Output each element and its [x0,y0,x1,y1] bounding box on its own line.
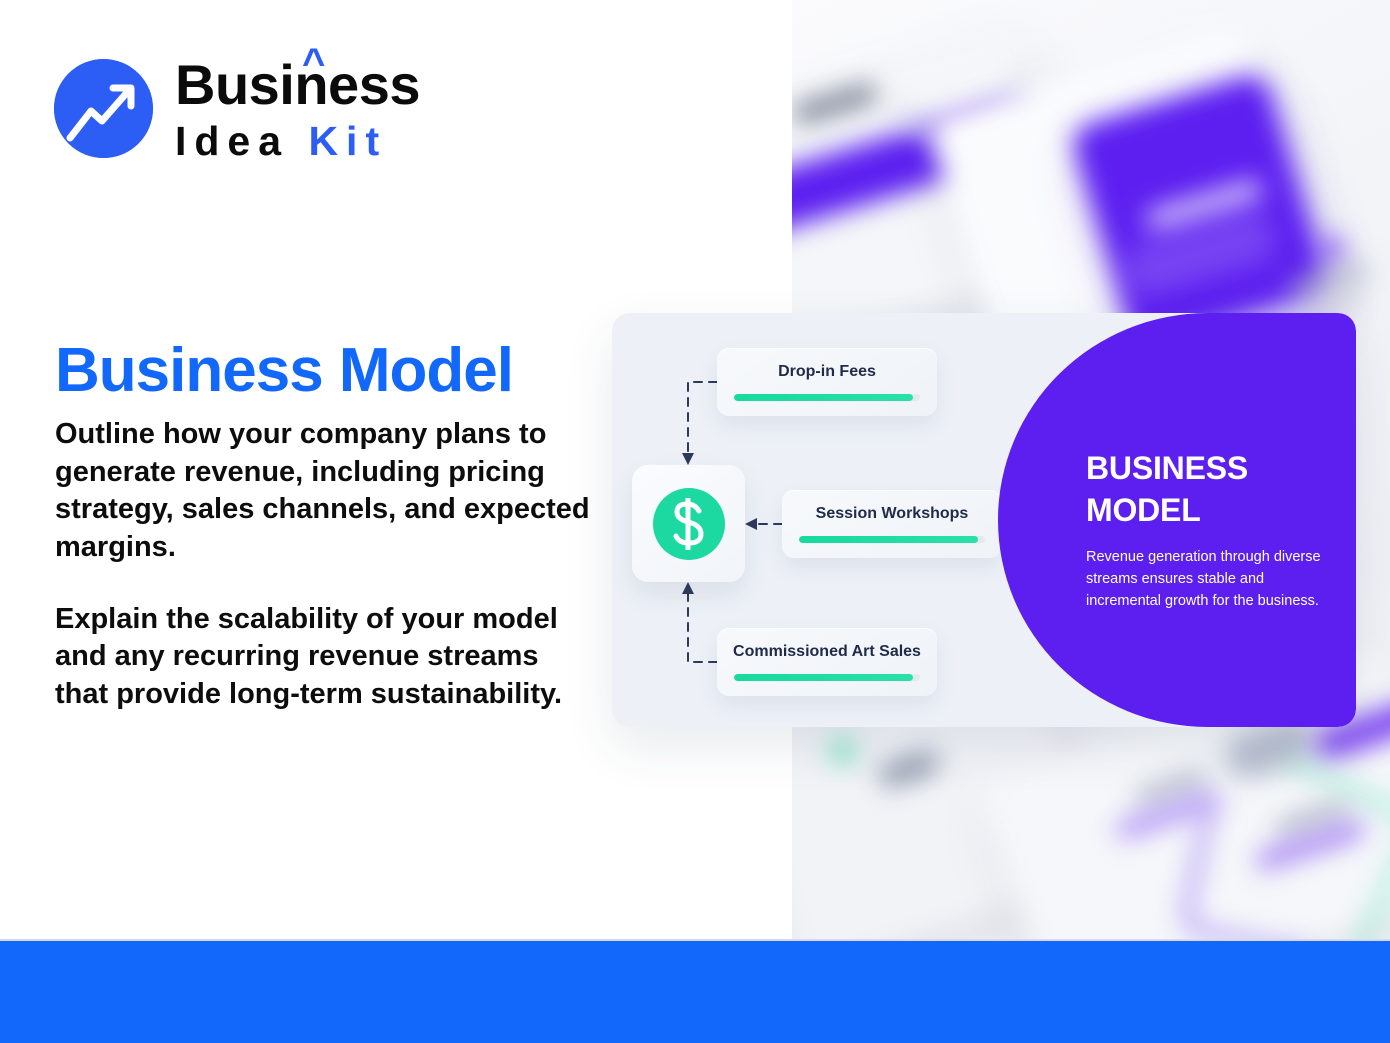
summary-panel-content: BUSINESS MODEL Revenue generation throug… [1086,447,1336,613]
brand-logo[interactable]: Business ^ Idea Kit [54,55,420,162]
backdrop-dot-a [1320,238,1344,262]
brand-name-secondary: Idea Kit [175,121,420,162]
brand-name-primary-text: Business [175,53,420,116]
body-paragraph-1: Outline how your company plans to genera… [55,416,595,567]
dollar-sign-icon [653,488,725,560]
brand-name-idea: Idea [175,118,289,164]
brand-wordmark: Business ^ Idea Kit [175,55,420,162]
node-progress-bar [734,394,920,401]
footer-band [0,941,1390,1043]
slide-page: Business ^ Idea Kit Business Model Outli… [0,0,1390,1043]
summary-title-line2: MODEL [1086,492,1201,528]
node-progress-bar [734,674,920,681]
brand-name-kit: Kit [308,118,387,164]
body-paragraph-2: Explain the scalability of your model an… [55,601,595,714]
revenue-stream-node[interactable]: Commissioned Art Sales [717,628,937,696]
page-body-copy: Outline how your company plans to genera… [55,416,595,714]
node-progress-fill [799,536,978,543]
revenue-stream-node[interactable]: Drop-in Fees [717,348,937,416]
brand-name-primary: Business ^ [175,57,420,113]
node-progress-fill [734,674,913,681]
node-label: Drop-in Fees [778,363,876,381]
node-progress-bar [799,536,985,543]
business-model-illustration-card: Drop-in Fees Session Workshops Commissio… [612,313,1356,727]
backdrop-lower-dot [832,740,854,762]
node-label: Commissioned Art Sales [733,643,921,661]
node-progress-fill [734,394,913,401]
node-label: Session Workshops [816,505,969,523]
summary-panel-description: Revenue generation through diverse strea… [1086,547,1336,612]
summary-title-line1: BUSINESS [1086,450,1248,486]
business-model-summary-panel: BUSINESS MODEL Revenue generation throug… [998,313,1356,727]
summary-panel-title: BUSINESS MODEL [1086,447,1336,531]
trending-up-arrow-icon [54,59,153,158]
revenue-hub [632,465,745,582]
brand-circumflex-icon: ^ [302,43,325,83]
revenue-stream-node[interactable]: Session Workshops [782,490,1002,558]
page-title: Business Model [55,338,513,403]
